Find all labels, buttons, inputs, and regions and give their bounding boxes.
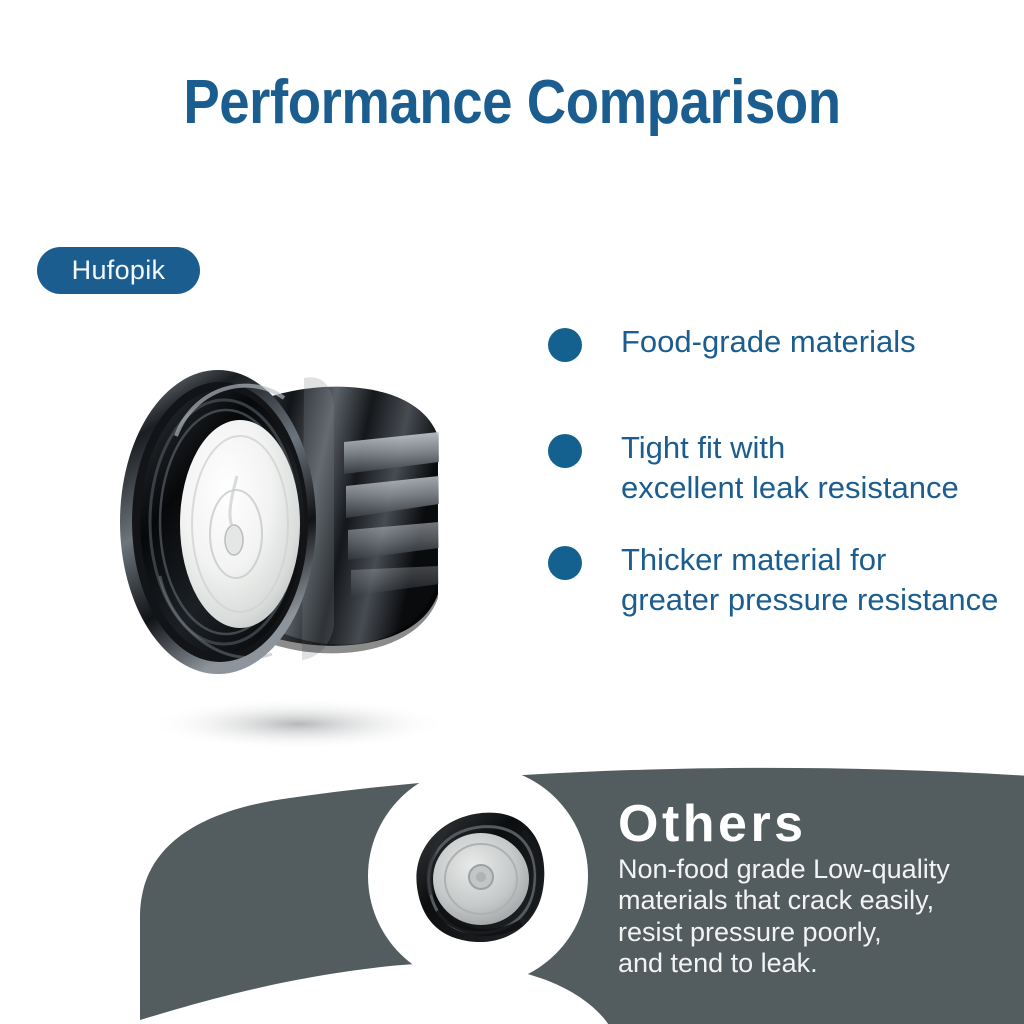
others-panel: Others Non-food grade Low-quality materi… bbox=[140, 752, 1024, 1024]
bullet-dot-icon bbox=[548, 546, 582, 580]
feature-item: Tight fit with excellent leak resistance bbox=[548, 428, 1018, 507]
page-title: Performance Comparison bbox=[61, 72, 962, 134]
hero-product-image bbox=[108, 326, 468, 751]
brand-badge: Hufopik bbox=[37, 247, 200, 294]
comparison-infographic: Performance Comparison Hufopik bbox=[0, 0, 1024, 1024]
others-thumbnail bbox=[368, 766, 588, 986]
others-description: Non-food grade Low-quality materials tha… bbox=[618, 854, 950, 979]
feature-item-label: Food-grade materials bbox=[621, 322, 916, 362]
feature-item: Thicker material for greater pressure re… bbox=[548, 540, 1018, 619]
feature-item: Food-grade materials bbox=[548, 322, 1018, 362]
bullet-dot-icon bbox=[548, 434, 582, 468]
feature-item-label: Thicker material for greater pressure re… bbox=[621, 540, 998, 619]
deformed-cap-illustration bbox=[393, 791, 563, 961]
bullet-dot-icon bbox=[548, 328, 582, 362]
others-heading: Others bbox=[618, 798, 807, 850]
feature-list: Food-grade materials Tight fit with exce… bbox=[548, 322, 1018, 620]
brand-badge-label: Hufopik bbox=[72, 257, 166, 284]
feature-item-label: Tight fit with excellent leak resistance bbox=[621, 428, 959, 507]
cap-illustration bbox=[108, 326, 468, 751]
